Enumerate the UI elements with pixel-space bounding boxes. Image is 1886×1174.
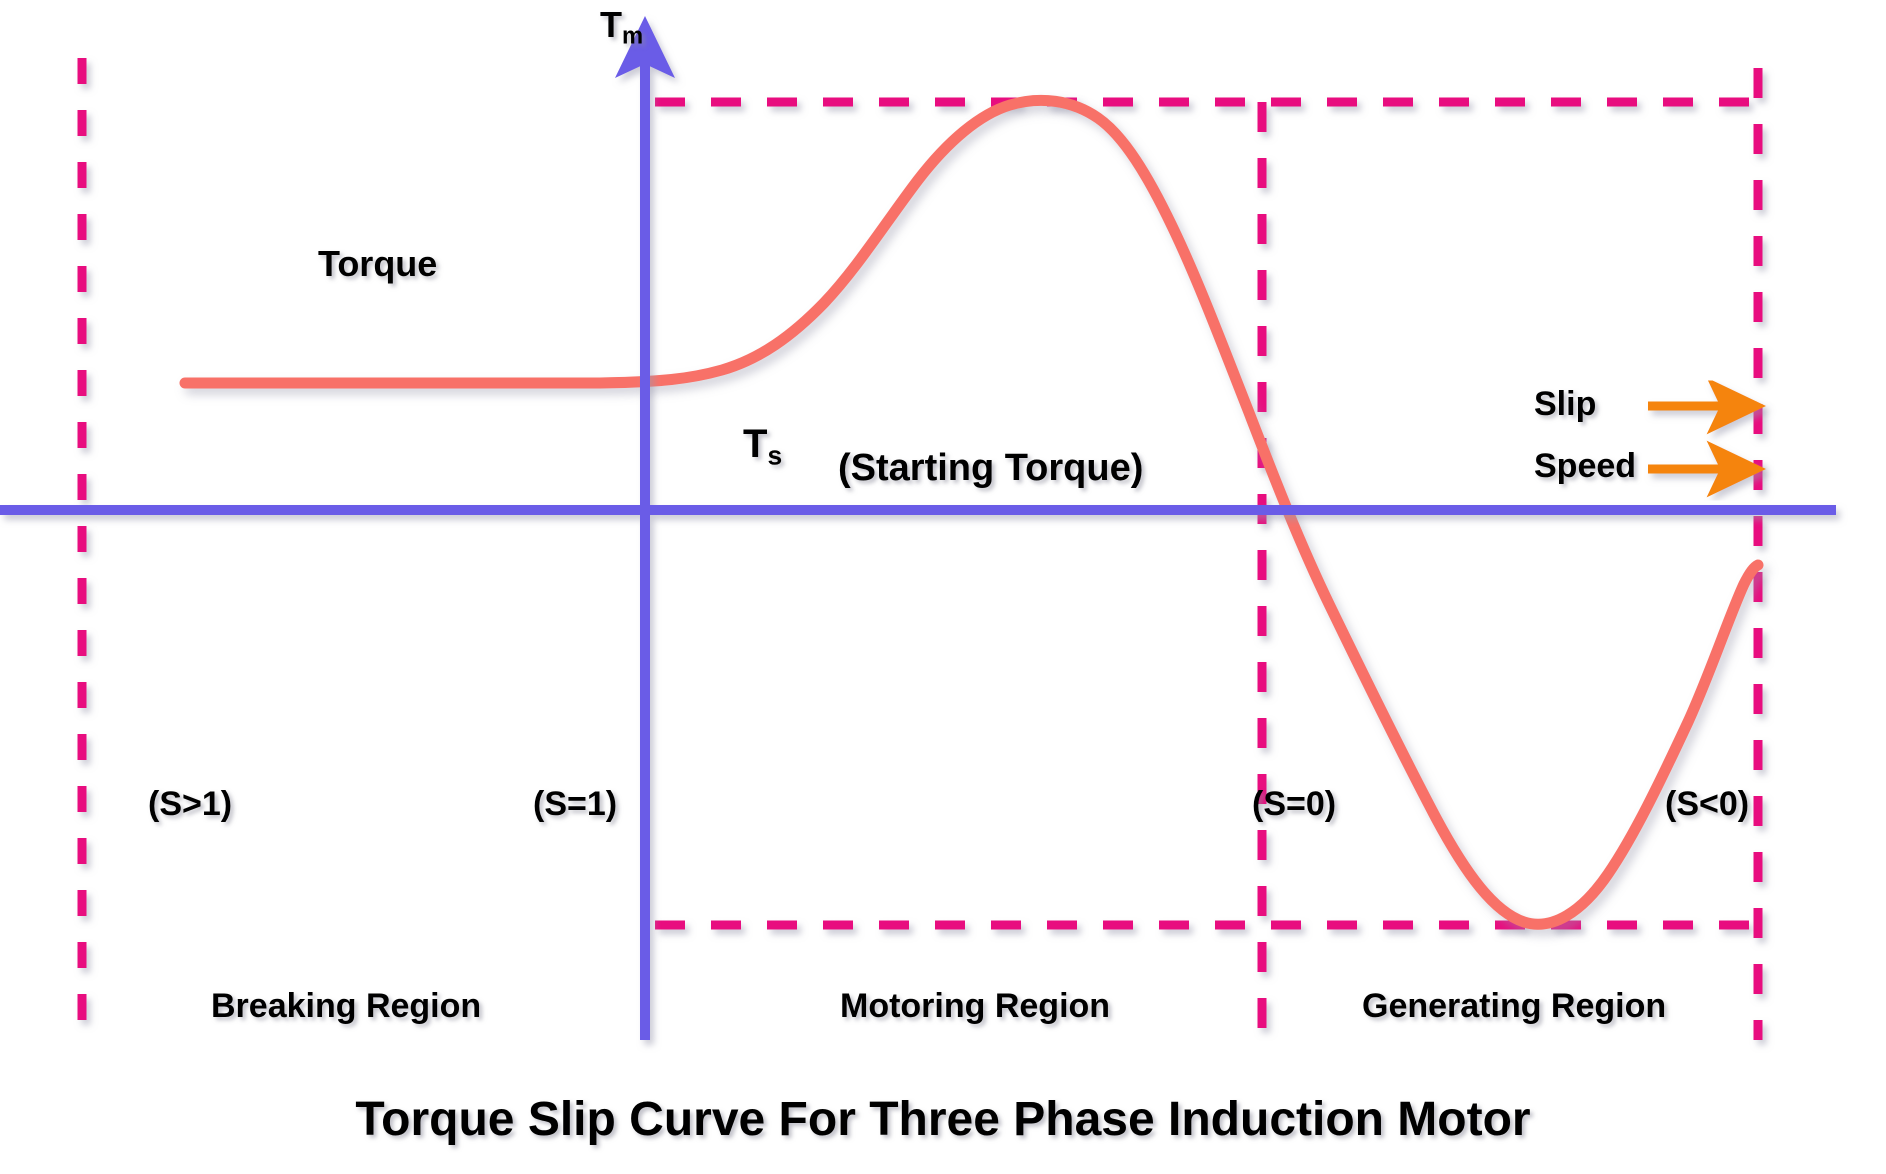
starting-torque-symbol-subscript: s: [767, 440, 782, 470]
starting-torque-caption: (Starting Torque): [838, 447, 1143, 490]
y-axis-label: Tm: [600, 4, 643, 51]
dashed-guides: [82, 58, 1768, 1040]
slip-label: Slip: [1534, 385, 1596, 424]
diagram-title: Torque Slip Curve For Three Phase Induct…: [0, 1092, 1886, 1147]
diagram-canvas: Tm Torque Ts (Starting Torque) Slip Spee…: [0, 0, 1886, 1174]
speed-label: Speed: [1534, 447, 1636, 486]
axes-group: [0, 16, 1836, 1040]
slip-marker-s-equals-0: (S=0): [1252, 785, 1336, 824]
region-label-generating: Generating Region: [1362, 987, 1666, 1026]
slip-speed-arrows: [1648, 406, 1757, 469]
torque-label: Torque: [318, 243, 437, 285]
starting-torque-symbol: Ts: [743, 422, 782, 471]
region-label-breaking: Breaking Region: [211, 987, 481, 1026]
slip-marker-s-equals-1: (S=1): [533, 785, 617, 824]
slip-marker-s-greater-than-1: (S>1): [148, 785, 232, 824]
y-axis-label-subscript: m: [622, 23, 643, 50]
slip-marker-s-less-than-0: (S<0): [1665, 785, 1749, 824]
starting-torque-symbol-text: T: [743, 422, 767, 466]
y-axis-label-text: T: [600, 4, 622, 45]
region-label-motoring: Motoring Region: [840, 987, 1110, 1026]
